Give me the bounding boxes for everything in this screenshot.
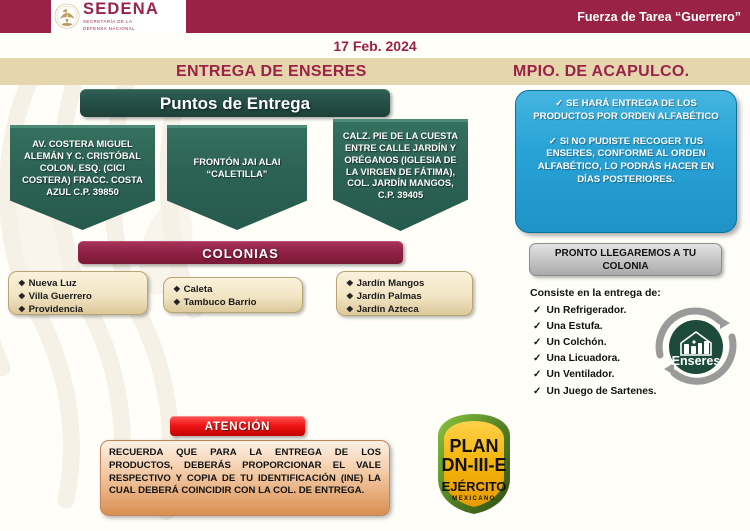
list-item: ❖Nueva Luz [18, 277, 141, 290]
notice-bullet-2-text: SI NO PUDISTE RECOGER TUS ENSERES, CONFO… [538, 136, 714, 185]
consists-item-list: ✓Un Refrigerador. ✓Una Estufa. ✓Un Colch… [533, 303, 656, 400]
consists-item-text: Un Ventilador. [547, 369, 615, 380]
delivery-points-row: AV. COSTERA MIGUEL ALEMÁN Y C. CRISTÓBAL… [0, 125, 500, 235]
plan-badge-line1: PLAN [450, 436, 499, 456]
list-item: ✓Un Refrigerador. [533, 303, 656, 319]
list-item: ❖Providencia [18, 303, 141, 316]
pronto-llegaremos-note: PRONTO LLEGAREMOS A TU COLONIA [529, 243, 722, 276]
diamond-bullet-icon: ❖ [346, 304, 354, 314]
diamond-bullet-icon: ❖ [18, 278, 26, 288]
alphabetical-order-notice: ✓SE HARÁ ENTREGA DE LOS PRODUCTOS POR OR… [515, 90, 737, 233]
colonias-group-2: ❖Caleta ❖Tambuco Barrio [163, 277, 303, 313]
check-icon: ✓ [533, 305, 542, 316]
colonia-name: Villa Guerrero [29, 291, 92, 302]
check-icon: ✓ [533, 321, 542, 332]
sedena-subtitle-l2: DEFENSA NACIONAL [83, 26, 159, 32]
delivery-point-3: CALZ. PIE DE LA CUESTA ENTRE CALLE JARDÍ… [333, 119, 468, 231]
check-icon: ✓ [533, 353, 542, 364]
title-entrega-de-enseres: ENTREGA DE ENSERES [176, 58, 367, 85]
enseres-label: Enseres [672, 354, 721, 368]
diamond-bullet-icon: ❖ [346, 278, 354, 288]
notice-bullet-1: ✓SE HARÁ ENTREGA DE LOS PRODUCTOS POR OR… [526, 98, 726, 124]
plan-badge-line3: EJÉRCITO [442, 479, 507, 494]
list-item: ✓Una Licuadora. [533, 351, 656, 367]
check-icon: ✓ [555, 98, 563, 109]
diamond-bullet-icon: ❖ [173, 297, 181, 307]
list-item: ✓Un Juego de Sartenes. [533, 384, 656, 400]
consists-item-text: Un Refrigerador. [547, 305, 627, 316]
plan-dn3e-badge-icon: PLAN DN-III-E EJÉRCITO MEXICANO [430, 412, 518, 516]
delivery-points-banner: Puntos de Entrega [80, 89, 390, 117]
list-item: ✓Un Colchón. [533, 335, 656, 351]
colonia-name: Jardín Palmas [357, 291, 422, 302]
list-item: ❖Jardín Azteca [346, 303, 466, 316]
diamond-bullet-icon: ❖ [346, 291, 354, 301]
list-item: ❖Caleta [173, 283, 296, 296]
list-item: ❖Tambuco Barrio [173, 296, 296, 309]
check-icon: ✓ [533, 369, 542, 380]
delivery-point-1-text: AV. COSTERA MIGUEL ALEMÁN Y C. CRISTÓBAL… [16, 139, 149, 198]
sedena-wordmark: SEDENA [83, 1, 159, 18]
check-icon: ✓ [549, 136, 557, 147]
right-column: ✓SE HARÁ ENTREGA DE LOS PRODUCTOS POR OR… [505, 85, 750, 531]
atencion-text: RECUERDA QUE PARA LA ENTREGA DE LOS PROD… [109, 447, 381, 498]
list-item: ✓Una Estufa. [533, 319, 656, 335]
poster-root: SEDENA SECRETARÍA DE LA DEFENSA NACIONAL… [0, 0, 750, 531]
enseres-badge: Enseres [648, 303, 743, 388]
diamond-bullet-icon: ❖ [18, 291, 26, 301]
list-item: ✓Un Ventilador. [533, 367, 656, 383]
colonias-group-3: ❖Jardín Mangos ❖Jardín Palmas ❖Jardín Az… [336, 271, 473, 316]
title-band: ENTREGA DE ENSERES MPIO. DE ACAPULCO. [0, 58, 750, 85]
colonias-banner: COLONIAS [78, 241, 403, 264]
consists-item-text: Una Estufa. [547, 321, 603, 332]
list-item: ❖Jardín Palmas [346, 290, 466, 303]
colonia-name: Nueva Luz [29, 278, 77, 289]
colonia-name: Jardín Mangos [357, 278, 425, 289]
colonia-name: Providencia [29, 304, 83, 315]
diamond-bullet-icon: ❖ [173, 284, 181, 294]
delivery-point-2: FRONTÓN JAI ALAI “CALETILLA” [167, 125, 307, 230]
delivery-point-2-text: FRONTÓN JAI ALAI “CALETILLA” [173, 157, 301, 181]
sedena-logo: SEDENA SECRETARÍA DE LA DEFENSA NACIONAL [51, 0, 186, 33]
diamond-bullet-icon: ❖ [18, 304, 26, 314]
atencion-body: RECUERDA QUE PARA LA ENTREGA DE LOS PROD… [100, 440, 390, 516]
check-icon: ✓ [533, 386, 542, 397]
consists-title: Consiste en la entrega de: [530, 287, 661, 299]
delivery-point-3-text: CALZ. PIE DE LA CUESTA ENTRE CALLE JARDÍ… [339, 131, 462, 202]
sedena-subtitle-l1: SECRETARÍA DE LA [83, 19, 159, 25]
consists-item-text: Un Juego de Sartenes. [547, 386, 657, 397]
top-header-bar: SEDENA SECRETARÍA DE LA DEFENSA NACIONAL… [0, 0, 750, 33]
delivery-point-1: AV. COSTERA MIGUEL ALEMÁN Y C. CRISTÓBAL… [10, 125, 155, 230]
colonias-group-1: ❖Nueva Luz ❖Villa Guerrero ❖Providencia [8, 271, 148, 315]
list-item: ❖Villa Guerrero [18, 290, 141, 303]
check-icon: ✓ [533, 337, 542, 348]
atencion-header: ATENCIÓN [170, 416, 305, 436]
title-municipio: MPIO. DE ACAPULCO. [513, 58, 689, 85]
poster-date: 17 Feb. 2024 [0, 33, 750, 58]
plan-badge-line4: MEXICANO [452, 496, 496, 502]
task-force-title: Fuerza de Tarea “Guerrero” [577, 0, 741, 33]
colonia-name: Tambuco Barrio [184, 297, 257, 308]
colonia-name: Caleta [184, 284, 213, 295]
consists-item-text: Una Licuadora. [547, 353, 621, 364]
eagle-emblem-icon [54, 3, 80, 31]
list-item: ❖Jardín Mangos [346, 277, 466, 290]
notice-bullet-2: ✓SI NO PUDISTE RECOGER TUS ENSERES, CONF… [526, 136, 726, 187]
colonia-name: Jardín Azteca [357, 304, 419, 315]
consists-item-text: Un Colchón. [547, 337, 607, 348]
plan-badge-line2: DN-III-E [442, 455, 507, 475]
